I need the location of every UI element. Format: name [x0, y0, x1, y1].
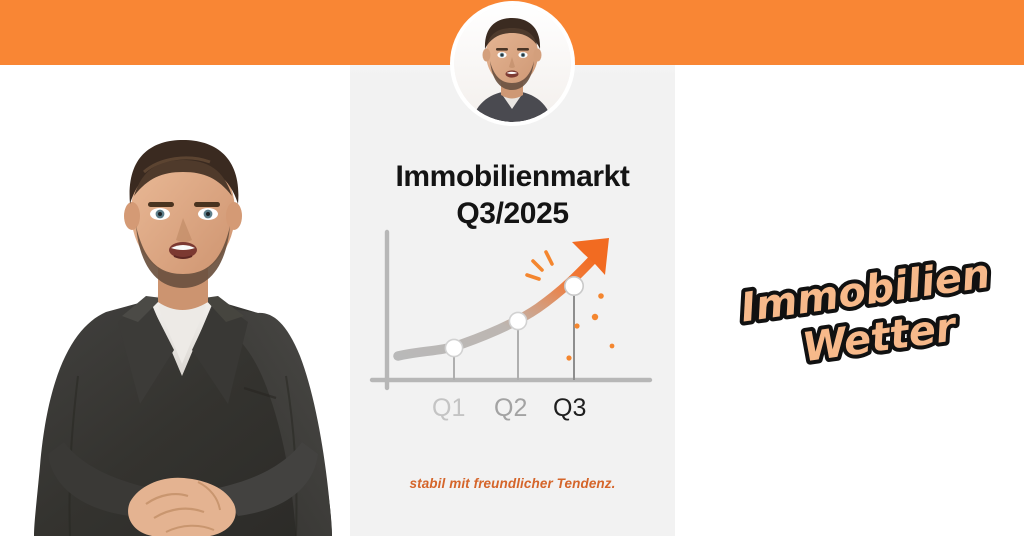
- video-thumbnail-canvas: Immobilienmarkt Q3/2025: [0, 0, 1024, 536]
- chart-tick-label-q1: Q1: [432, 393, 465, 423]
- page-title-line-1: Immobilienmarkt: [350, 158, 675, 195]
- chart-sparkle-icon: [527, 252, 552, 279]
- chart-axis-labels: Q1 Q2 Q3: [350, 393, 675, 427]
- chart-tick-label-q3: Q3: [553, 393, 586, 423]
- chart-trend-curve: [398, 256, 596, 356]
- page-title-line-2: Q3/2025: [350, 195, 675, 232]
- avatar: [454, 5, 571, 122]
- page-title: Immobilienmarkt Q3/2025: [350, 158, 675, 232]
- chart-tick-label-q2: Q2: [494, 393, 527, 423]
- presenter-head: [124, 140, 242, 288]
- avatar-photo: [454, 5, 571, 122]
- brand-logo: Immobilien Wetter: [724, 252, 1014, 382]
- avatar-portrait-illustration: [454, 5, 571, 122]
- chart-caption: stabil mit freundlicher Tendenz.: [350, 476, 675, 491]
- trend-chart: [366, 228, 656, 408]
- presenter-image: [18, 136, 348, 536]
- brand-logo-text-group: Immobilien Wetter: [738, 252, 1000, 379]
